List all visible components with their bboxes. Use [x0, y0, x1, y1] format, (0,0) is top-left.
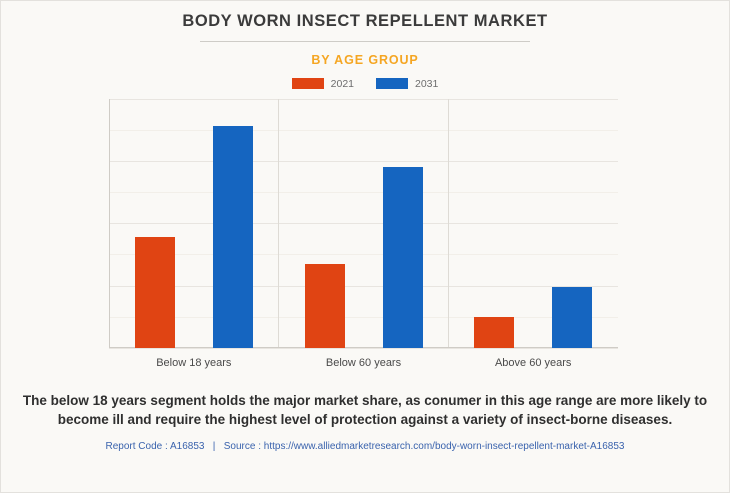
bar-group — [109, 99, 279, 348]
page-title: BODY WORN INSECT REPELLENT MARKET — [1, 12, 729, 32]
chart-subtitle: BY AGE GROUP — [1, 53, 729, 67]
x-axis-label-1: Below 60 years — [279, 357, 449, 369]
color-swatch-icon — [292, 78, 324, 89]
color-swatch-icon — [376, 78, 408, 89]
chart-plot-area: Below 18 yearsBelow 60 yearsAbove 60 yea… — [1, 99, 729, 369]
bar-2031-below-60-years[interactable] — [383, 167, 423, 348]
bar-group — [279, 99, 449, 348]
title-divider — [200, 41, 530, 42]
source-url[interactable]: Source : https://www.alliedmarketresearc… — [224, 441, 625, 452]
x-axis-label-0: Below 18 years — [109, 357, 279, 369]
bar-2021-above-60-years[interactable] — [474, 317, 514, 348]
legend-item-2031[interactable]: 2031 — [376, 78, 438, 90]
source-line: Report Code : A16853 | Source : https://… — [1, 441, 729, 452]
chart-legend: 2021 2031 — [1, 78, 729, 90]
source-divider: | — [207, 441, 221, 452]
legend-label-2031: 2031 — [415, 78, 438, 90]
x-axis-label-2: Above 60 years — [448, 357, 618, 369]
bar-2031-above-60-years[interactable] — [552, 287, 592, 347]
report-code: Report Code : A16853 — [106, 441, 205, 452]
bar-groups — [109, 99, 618, 348]
chart-header: BODY WORN INSECT REPELLENT MARKET BY AGE… — [1, 1, 729, 67]
bar-group — [448, 99, 618, 348]
insight-description: The below 18 years segment holds the maj… — [17, 391, 713, 429]
x-axis-tick-labels: Below 18 yearsBelow 60 yearsAbove 60 yea… — [109, 348, 618, 369]
legend-label-2021: 2021 — [331, 78, 354, 90]
gridline — [109, 348, 618, 349]
bar-chart-canvas — [109, 99, 618, 348]
bar-2031-below-18-years[interactable] — [213, 126, 253, 348]
infographic-card: BODY WORN INSECT REPELLENT MARKET BY AGE… — [0, 0, 730, 493]
legend-item-2021[interactable]: 2021 — [292, 78, 354, 90]
bar-2021-below-18-years[interactable] — [135, 237, 175, 347]
bar-2021-below-60-years[interactable] — [305, 264, 345, 347]
